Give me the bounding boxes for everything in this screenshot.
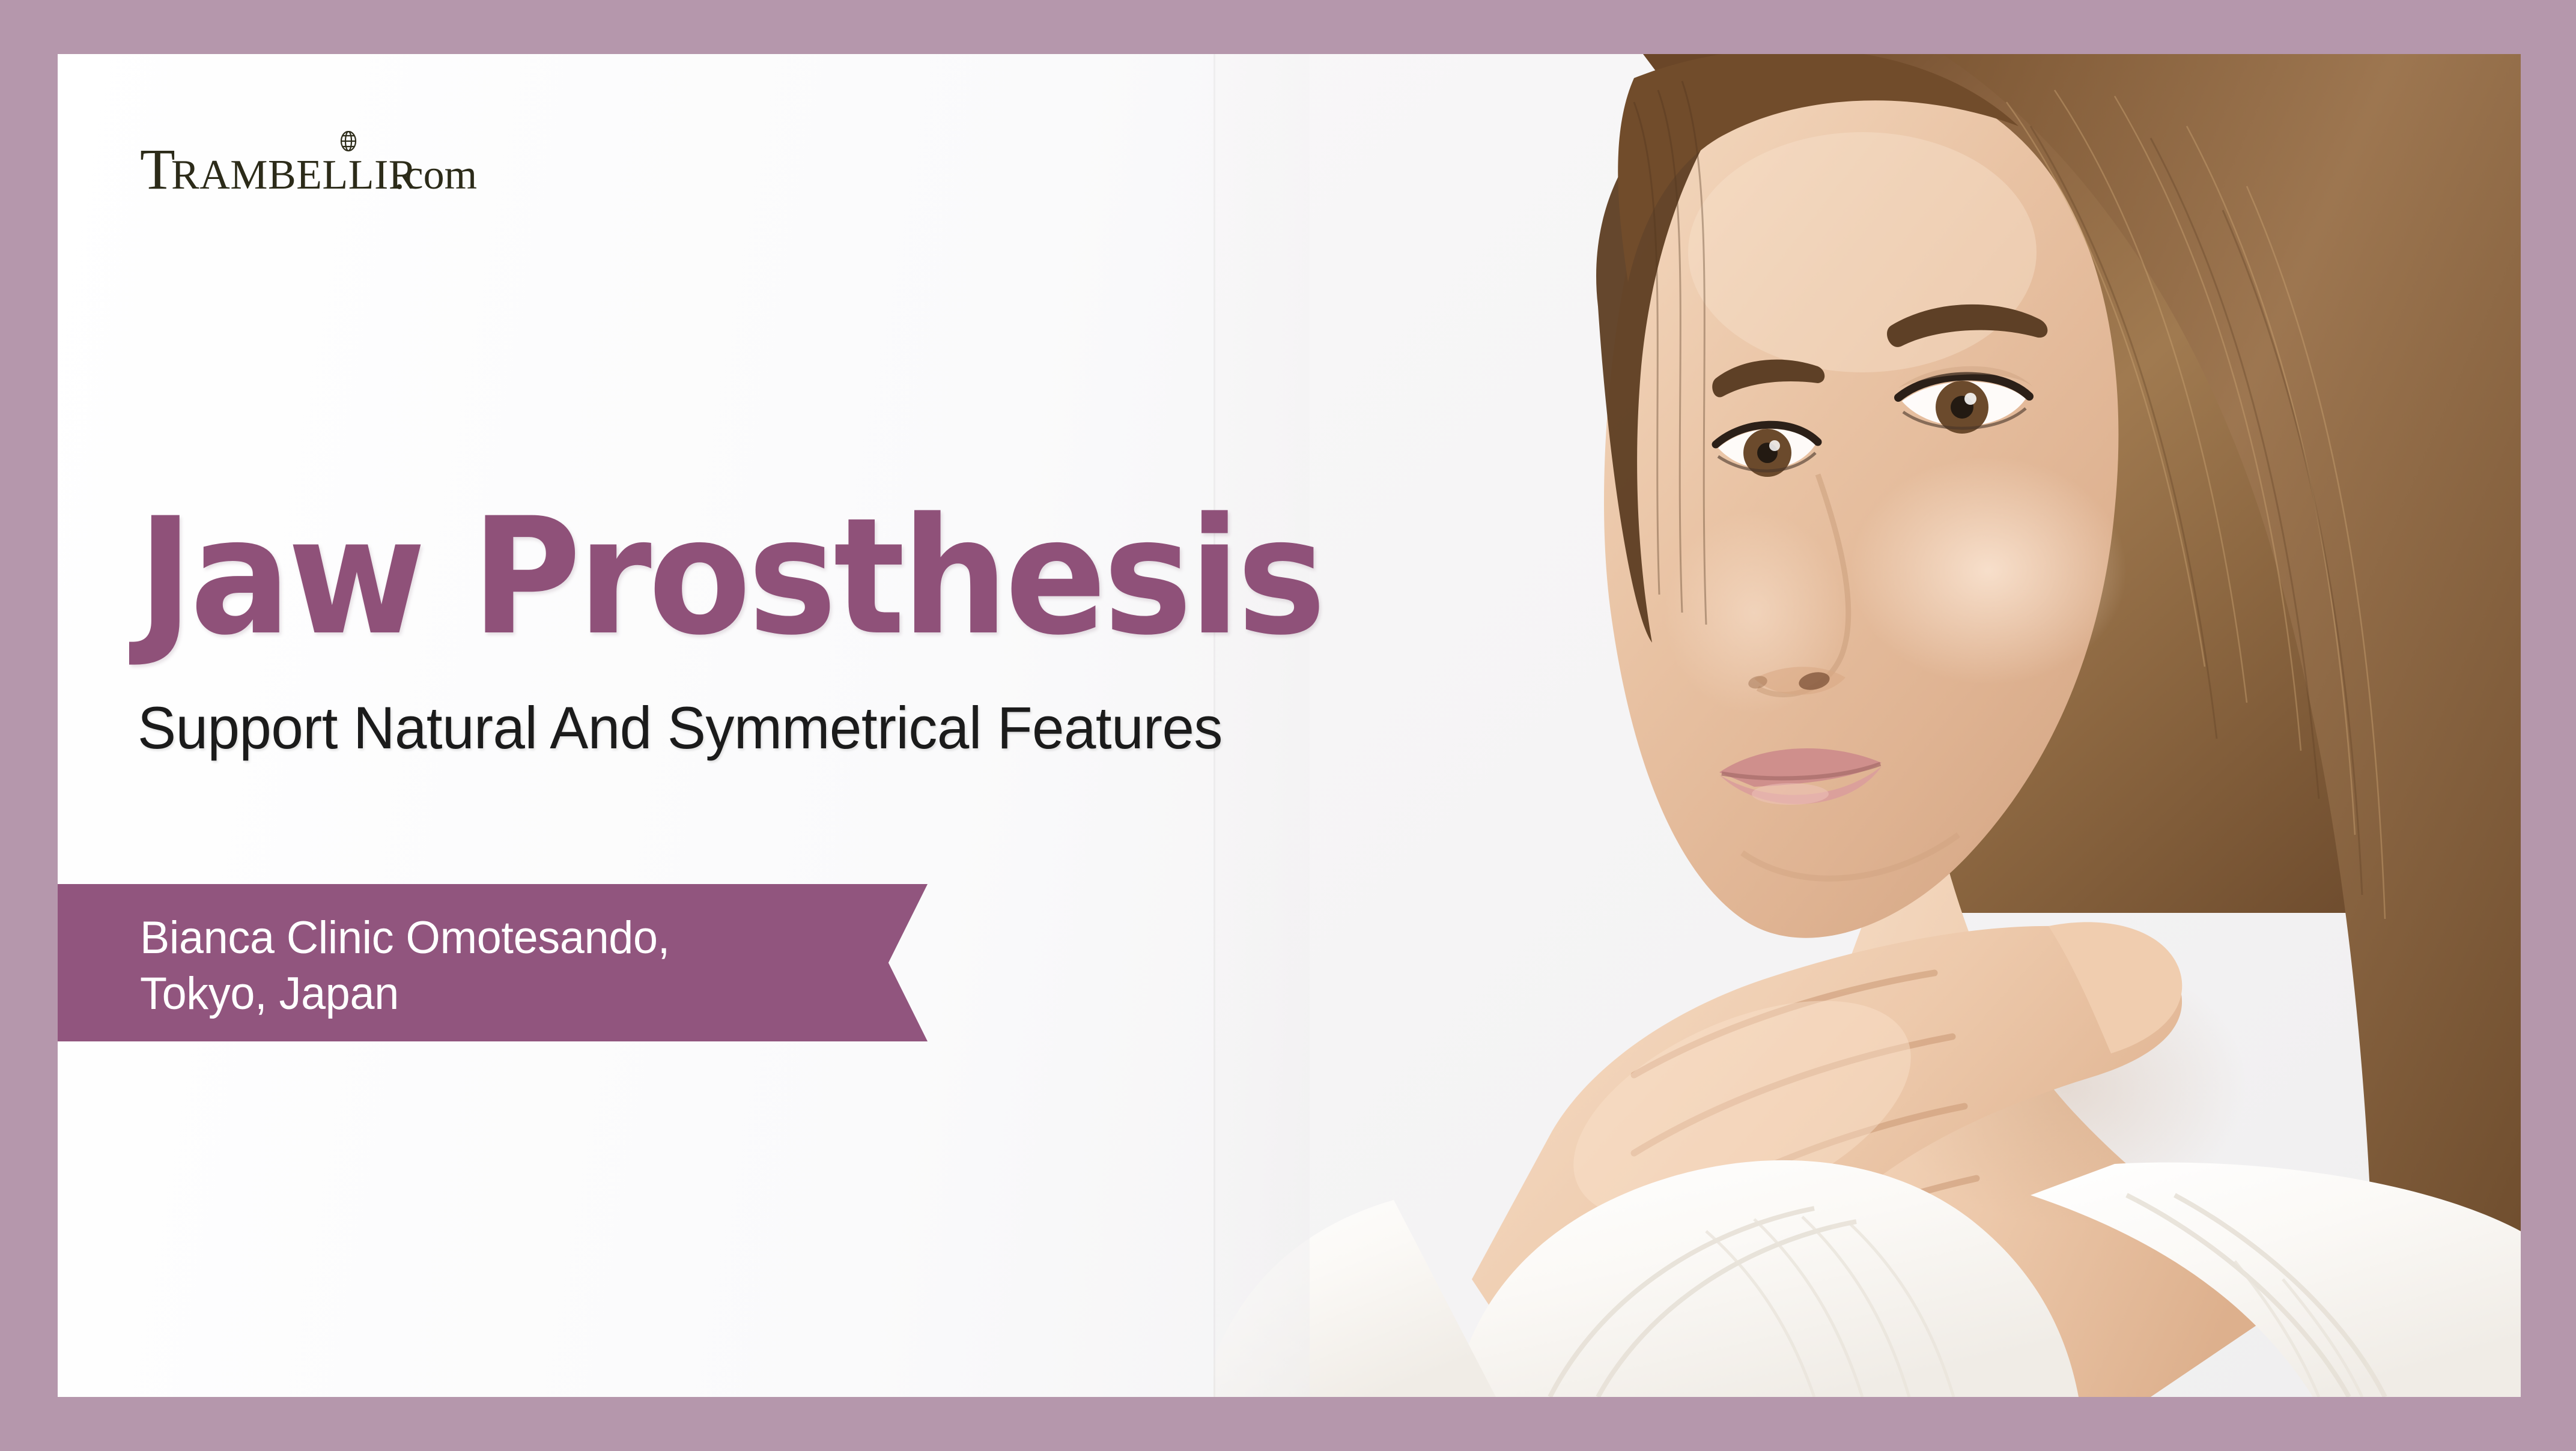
page-title: Jaw Prosthesis xyxy=(138,495,1323,659)
headline-block: Jaw Prosthesis Support Natural And Symme… xyxy=(138,495,1412,761)
svg-text:.com: .com xyxy=(394,152,477,197)
brand-logo[interactable]: T RAMBELLIR .com Trambellir.com xyxy=(140,131,512,197)
clinic-location-label: Bianca Clinic Omotesando, Tokyo, Japan xyxy=(140,910,670,1022)
clinic-ribbon: Bianca Clinic Omotesando, Tokyo, Japan xyxy=(58,884,928,1041)
globe-icon xyxy=(341,132,356,151)
svg-text:T: T xyxy=(140,137,175,197)
page-subtitle: Support Natural And Symmetrical Features xyxy=(138,695,1374,761)
content-card: T RAMBELLIR .com Trambellir.com Jaw Pros… xyxy=(58,54,2521,1397)
svg-text:RAMBELLIR: RAMBELLIR xyxy=(171,152,417,197)
banner-root: T RAMBELLIR .com Trambellir.com Jaw Pros… xyxy=(0,0,2576,1451)
